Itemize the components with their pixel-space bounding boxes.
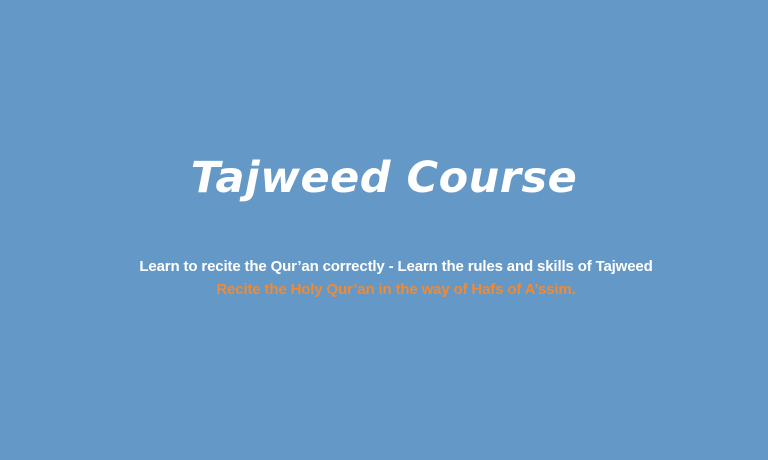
- subtitle-primary-line: Learn to recite the Qur’an correctly - L…: [12, 255, 768, 278]
- course-banner: Tajweed Course Learn to recite the Qur’a…: [0, 0, 768, 460]
- subtitle-secondary-line: Recite the Holy Qur’an in the way of Haf…: [12, 278, 768, 301]
- subtitle-block: Learn to recite the Qur’an correctly - L…: [12, 255, 768, 301]
- page-title: Tajweed Course: [0, 0, 768, 200]
